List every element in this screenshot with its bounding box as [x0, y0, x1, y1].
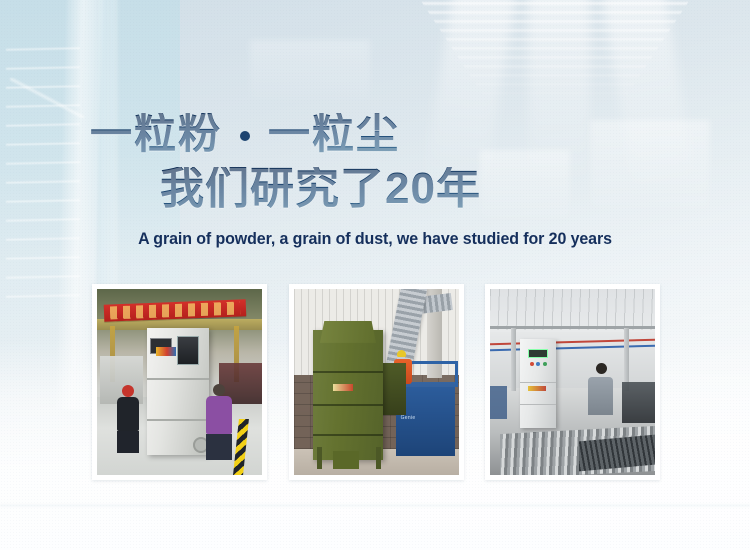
background-machine-block-right [480, 150, 570, 220]
photo-worker-legs [117, 431, 139, 453]
background-light-beam [603, 0, 696, 194]
photo-worker [206, 384, 232, 460]
photo-panel-seam [520, 382, 556, 383]
photo-background-dark-machine [622, 382, 655, 423]
photo-card[interactable]: Genie [289, 284, 464, 480]
background-machine-block-center [250, 40, 370, 100]
background-floor-seam [0, 505, 750, 506]
photo-worker-helmet [397, 350, 406, 357]
promotional-banner: 一粒粉 一粒尘 我们研究了20年 A grain of powder, a gr… [0, 0, 750, 550]
photo-background-blue-equipment [490, 386, 507, 419]
background-diagonal-brace [10, 78, 84, 118]
photo-roof [490, 289, 655, 330]
photo-dust-hopper [333, 451, 359, 470]
background-light-beam [528, 0, 590, 190]
photo-card-row: Genie [92, 284, 660, 480]
photo-panel-seam [313, 404, 382, 406]
photo-worker-legs [206, 434, 232, 460]
photo-dust-collector-green: Genie [294, 289, 459, 475]
headline-left-phrase: 一粒粉 [90, 113, 222, 155]
photo-panel-seam [520, 404, 556, 405]
photo-worker [586, 363, 616, 415]
headline-right-phrase: 一粒尘 [268, 113, 400, 155]
headline-subtitle-english: A grain of powder, a grain of dust, we h… [23, 229, 728, 249]
photo-dust-collector-workshop [490, 289, 655, 475]
photo-product-label [528, 386, 546, 392]
photo-dust-collector-unit [313, 330, 382, 460]
photo-panel-seam [147, 419, 210, 421]
background-machine-block-right [590, 120, 710, 210]
photo-worker-body [206, 396, 232, 434]
photo-column [511, 328, 516, 391]
background-railing-lines [6, 47, 80, 299]
photo-dust-collector-white-factory [97, 289, 262, 475]
photo-panel-seam [147, 378, 210, 380]
photo-unit-hood [320, 321, 376, 343]
photo-worker-body [117, 397, 139, 431]
photo-panel-seam [313, 371, 382, 373]
photo-worker-head [596, 363, 607, 374]
headline-line-2: 我们研究了20年 [160, 167, 481, 211]
photo-control-button [543, 362, 547, 366]
photo-control-button [530, 362, 534, 366]
photo-unit-leg [376, 447, 381, 469]
photo-motor-housing [379, 363, 405, 415]
photo-worker-head [122, 385, 134, 397]
photo-product-label [156, 347, 176, 356]
photo-worker-head [213, 384, 225, 396]
photo-worker [117, 385, 139, 453]
photo-lift-brand-label: Genie [401, 415, 416, 421]
photo-control-button [536, 362, 540, 366]
photo-control-panel [528, 349, 548, 358]
photo-card[interactable] [92, 284, 267, 480]
photo-worker-body [588, 377, 613, 416]
photo-product-label [333, 384, 353, 391]
headline-line-1: 一粒粉 一粒尘 [90, 113, 400, 155]
photo-unit-leg [317, 447, 322, 469]
background-ceiling-skylight [390, 0, 720, 104]
photo-card[interactable] [485, 284, 660, 480]
dot-separator-icon [240, 131, 250, 141]
photo-panel-seam [313, 434, 382, 436]
